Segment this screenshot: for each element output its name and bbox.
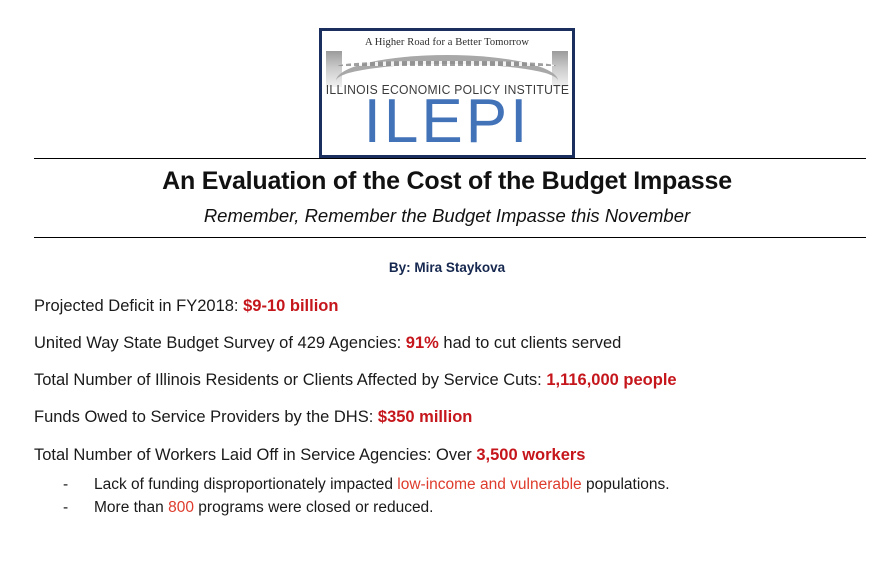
bridge-pier-right: [552, 51, 568, 87]
fact-row: Total Number of Workers Laid Off in Serv…: [34, 446, 894, 464]
fact-row: Total Number of Illinois Residents or Cl…: [34, 371, 894, 389]
document-page: { "logo": { "tagline": "A Higher Road fo…: [0, 0, 894, 587]
fact-row: Funds Owed to Service Providers by the D…: [34, 408, 894, 426]
fact-row: United Way State Budget Survey of 429 Ag…: [34, 334, 894, 352]
logo-tagline: A Higher Road for a Better Tomorrow: [322, 37, 572, 48]
fact-value: $9-10 billion: [243, 297, 338, 315]
fact-value: 91%: [406, 334, 439, 352]
fact-label: Total Number of Illinois Residents or Cl…: [34, 371, 546, 389]
fact-label: Projected Deficit in FY2018:: [34, 297, 243, 315]
list-item: -More than 800 programs were closed or r…: [34, 500, 894, 516]
bridge-pier-left: [326, 51, 342, 87]
sub-bullet-list: -Lack of funding disproportionately impa…: [34, 477, 894, 517]
page-subtitle: Remember, Remember the Budget Impasse th…: [0, 205, 894, 227]
bullet-dash-icon: -: [63, 500, 68, 516]
bridge-arch-icon: [326, 51, 568, 87]
ilepi-logo: A Higher Road for a Better Tomorrow ILLI…: [319, 28, 575, 158]
logo-acronym: ILEPI: [322, 91, 572, 153]
title-block: An Evaluation of the Cost of the Budget …: [0, 159, 894, 237]
fact-label: Total Number of Workers Laid Off in Serv…: [34, 446, 476, 464]
list-item-highlight: low-income and vulnerable: [397, 476, 581, 493]
bullet-dash-icon: -: [63, 477, 68, 493]
fact-list: Projected Deficit in FY2018: $9-10 billi…: [0, 275, 894, 516]
fact-label: United Way State Budget Survey of 429 Ag…: [34, 334, 406, 352]
page-title: An Evaluation of the Cost of the Budget …: [0, 167, 894, 196]
byline: By: Mira Staykova: [0, 238, 894, 275]
bridge-arch-span: [336, 55, 558, 81]
list-item-label: Lack of funding disproportionately impac…: [94, 476, 397, 493]
fact-row: Projected Deficit in FY2018: $9-10 billi…: [34, 297, 894, 315]
list-item-suffix: populations.: [582, 476, 670, 493]
fact-suffix: had to cut clients served: [439, 334, 622, 352]
fact-value: 3,500 workers: [476, 446, 585, 464]
list-item-highlight: 800: [168, 499, 194, 516]
fact-value: $350 million: [378, 408, 472, 426]
bridge-deck: [338, 61, 556, 66]
list-item-label: More than: [94, 499, 168, 516]
fact-label: Funds Owed to Service Providers by the D…: [34, 408, 378, 426]
list-item-suffix: programs were closed or reduced.: [194, 499, 434, 516]
logo-container: A Higher Road for a Better Tomorrow ILLI…: [0, 0, 894, 158]
fact-value: 1,116,000 people: [546, 371, 676, 389]
list-item: -Lack of funding disproportionately impa…: [34, 477, 894, 493]
